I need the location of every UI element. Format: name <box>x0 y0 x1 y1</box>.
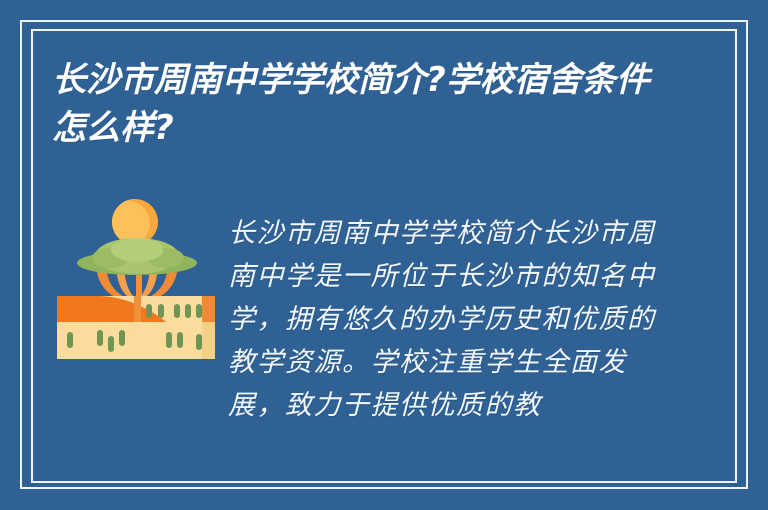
poster-canvas: 长沙市周南中学学校简介?学校宿舍条件怎么样? <box>0 0 768 510</box>
tree-canopy-icon <box>77 238 197 275</box>
article-body-text: 长沙市周南中学学校简介长沙市周南中学是一所位于长沙市的知名中学，拥有悠久的办学历… <box>228 212 664 470</box>
page-title: 长沙市周南中学学校简介?学校宿舍条件怎么样? <box>52 56 672 152</box>
school-campus-illustration <box>56 196 216 360</box>
school-building-icon <box>57 296 215 359</box>
